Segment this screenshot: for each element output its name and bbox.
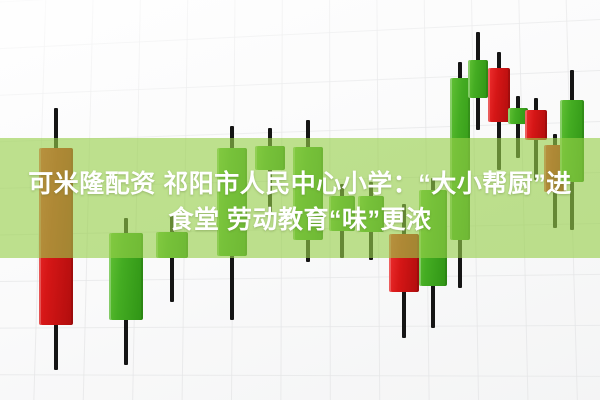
candlestick-body-up: [329, 196, 355, 231]
candlestick-body-up: [293, 147, 323, 240]
candlestick-body-up: [468, 60, 488, 98]
candlestick-wick: [268, 128, 272, 212]
candlestick-body-up: [358, 196, 384, 232]
candlestick-body-up: [255, 146, 285, 170]
candlestick-body-up: [450, 78, 470, 240]
candlestick-wick: [170, 214, 174, 302]
candlestick-series: [0, 0, 600, 400]
candlestick-chart-image: 可米隆配资 祁阳市人民中心小学：“大小帮厨”进 食堂 劳动教育“味”更浓: [0, 0, 600, 400]
candlestick-body-down: [39, 148, 73, 325]
candlestick-wick: [516, 96, 520, 158]
candlestick-body-up: [560, 100, 584, 182]
candlestick-body-up: [217, 148, 247, 256]
candlestick-body-up: [419, 190, 447, 286]
candlestick-body-up: [156, 232, 188, 258]
candlestick-body-down: [389, 234, 419, 292]
candlestick-body-up: [109, 233, 143, 320]
candlestick-body-down: [488, 68, 510, 122]
candlestick-body-down: [525, 110, 547, 140]
